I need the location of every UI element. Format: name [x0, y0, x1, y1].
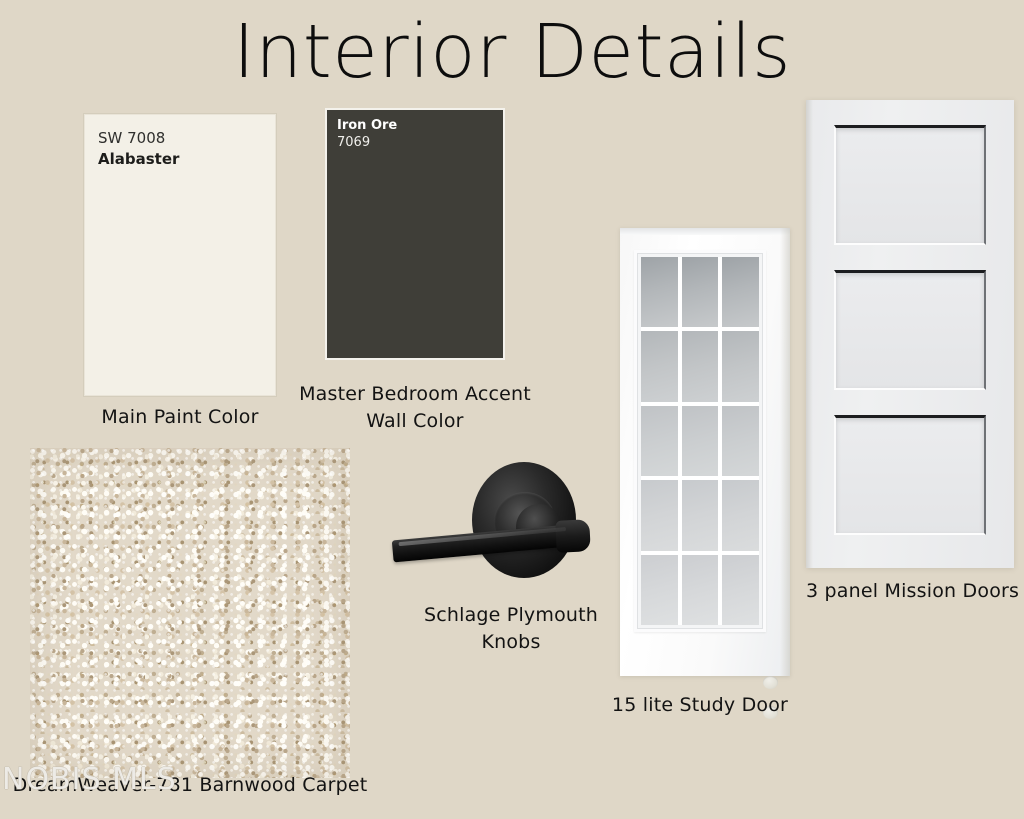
glass-lite [641, 406, 678, 476]
glass-lite [641, 331, 678, 401]
lever-handle-end-icon [555, 519, 591, 553]
paint-swatch-iron-ore-code: 7069 [337, 135, 370, 150]
paint-swatch-iron-ore-name: Iron Ore [337, 118, 397, 133]
glass-lite [682, 331, 719, 401]
caption-study-door: 15 lite Study Door [597, 692, 803, 719]
mission-door-image [806, 100, 1014, 568]
study-door-glass-frame [634, 250, 766, 632]
glass-lite [722, 406, 759, 476]
glass-lite [722, 331, 759, 401]
glass-lite [641, 480, 678, 550]
paint-swatch-alabaster: SW 7008 Alabaster [84, 114, 276, 396]
glass-lite [641, 257, 678, 327]
door-bore-hole-icon [763, 676, 778, 689]
glass-lite [682, 257, 719, 327]
paint-swatch-alabaster-code: SW 7008 [98, 129, 165, 147]
glass-lite [722, 555, 759, 625]
mission-door-panel [834, 125, 986, 245]
glass-lite [682, 555, 719, 625]
caption-carpet: DreamWeaver-781 Barnwood Carpet [0, 772, 380, 799]
study-door-lite-grid [641, 257, 759, 625]
caption-main-paint-color: Main Paint Color [60, 404, 300, 431]
page-title: Interior Details [0, 6, 1024, 98]
paint-swatch-iron-ore: Iron Ore 7069 [325, 108, 505, 360]
glass-lite [722, 480, 759, 550]
interior-details-board: Interior Details SW 7008 Alabaster Main … [0, 0, 1024, 819]
study-door-top-edge [620, 228, 790, 235]
mission-door-panel [834, 415, 986, 535]
mission-door-left-edge [806, 100, 813, 568]
mission-door-panel [834, 270, 986, 390]
glass-lite [641, 555, 678, 625]
study-door-right-edge [780, 228, 790, 676]
paint-swatch-alabaster-name: Alabaster [98, 150, 179, 168]
caption-door-knobs: Schlage Plymouth Knobs [400, 602, 622, 656]
caption-mission-doors: 3 panel Mission Doors [806, 578, 1022, 605]
glass-lite [682, 480, 719, 550]
caption-accent-wall-color: Master Bedroom Accent Wall Color [288, 381, 542, 435]
door-lever-hardware [388, 448, 598, 598]
study-door-image [620, 228, 790, 676]
glass-lite [682, 406, 719, 476]
carpet-sample-swatch [30, 448, 350, 778]
glass-lite [722, 257, 759, 327]
